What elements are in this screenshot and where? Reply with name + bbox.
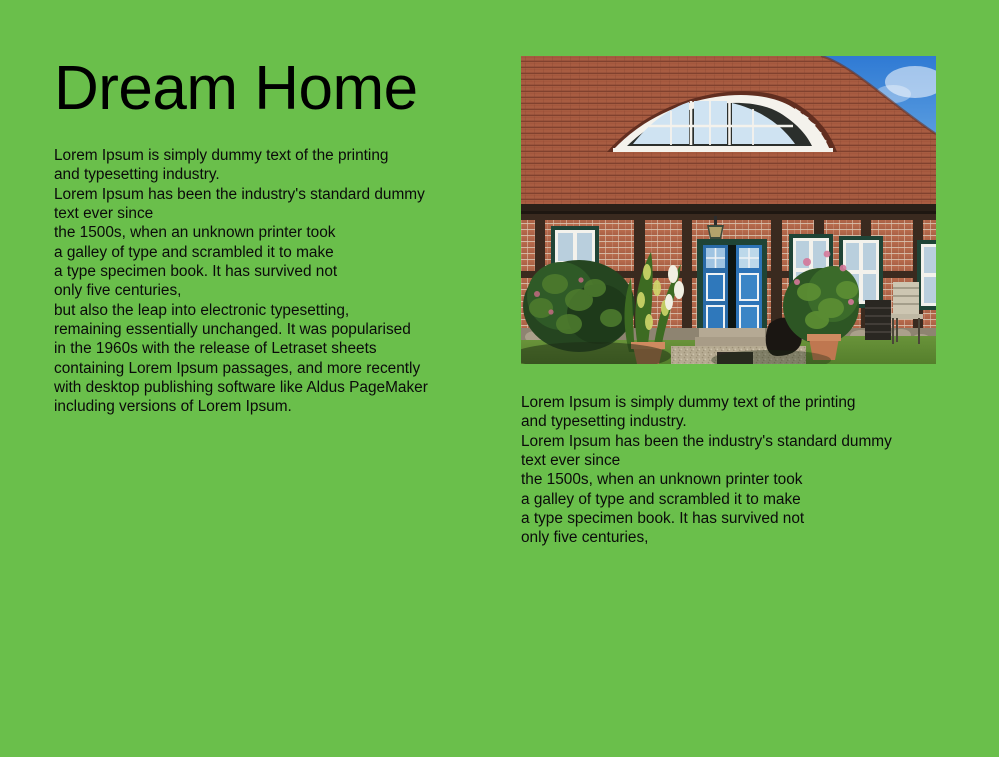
- text-line: and typesetting industry.: [521, 412, 892, 431]
- text-line: Lorem Ipsum is simply dummy text of the …: [521, 393, 892, 412]
- text-line: with desktop publishing software like Al…: [54, 378, 428, 397]
- text-line: remaining essentially unchanged. It was …: [54, 320, 428, 339]
- text-line: a type specimen book. It has survived no…: [521, 509, 892, 528]
- text-line: a galley of type and scrambled it to mak…: [521, 490, 892, 509]
- shrub-left: [523, 260, 635, 352]
- text-line: a type specimen book. It has survived no…: [54, 262, 428, 281]
- text-line: text ever since: [54, 204, 428, 223]
- text-line: in the 1960s with the release of Letrase…: [54, 339, 428, 358]
- text-line: only five centuries,: [54, 281, 428, 300]
- house-photo: [521, 56, 936, 364]
- page-title: Dream Home: [54, 54, 418, 124]
- text-line: Lorem Ipsum has been the industry's stan…: [521, 432, 892, 451]
- text-line: but also the leap into electronic typese…: [54, 301, 428, 320]
- left-text-block: Lorem Ipsum is simply dummy text of the …: [54, 146, 428, 417]
- entrance-door: [697, 239, 767, 339]
- text-line: including versions of Lorem Ipsum.: [54, 397, 428, 416]
- text-line: Lorem Ipsum is simply dummy text of the …: [54, 146, 428, 165]
- text-line: the 1500s, when an unknown printer took: [54, 223, 428, 242]
- house-illustration: [521, 56, 936, 364]
- slide-canvas: Dream Home Lorem Ipsum is simply dummy t…: [0, 0, 999, 757]
- text-line: only five centuries,: [521, 528, 892, 547]
- right-text-block: Lorem Ipsum is simply dummy text of the …: [521, 393, 892, 548]
- garden-bench-dark: [865, 300, 891, 340]
- text-line: a galley of type and scrambled it to mak…: [54, 243, 428, 262]
- text-line: and typesetting industry.: [54, 165, 428, 184]
- text-line: text ever since: [521, 451, 892, 470]
- window-right-3: [917, 240, 936, 310]
- text-line: Lorem Ipsum has been the industry's stan…: [54, 185, 428, 204]
- text-line: containing Lorem Ipsum passages, and mor…: [54, 359, 428, 378]
- text-line: the 1500s, when an unknown printer took: [521, 470, 892, 489]
